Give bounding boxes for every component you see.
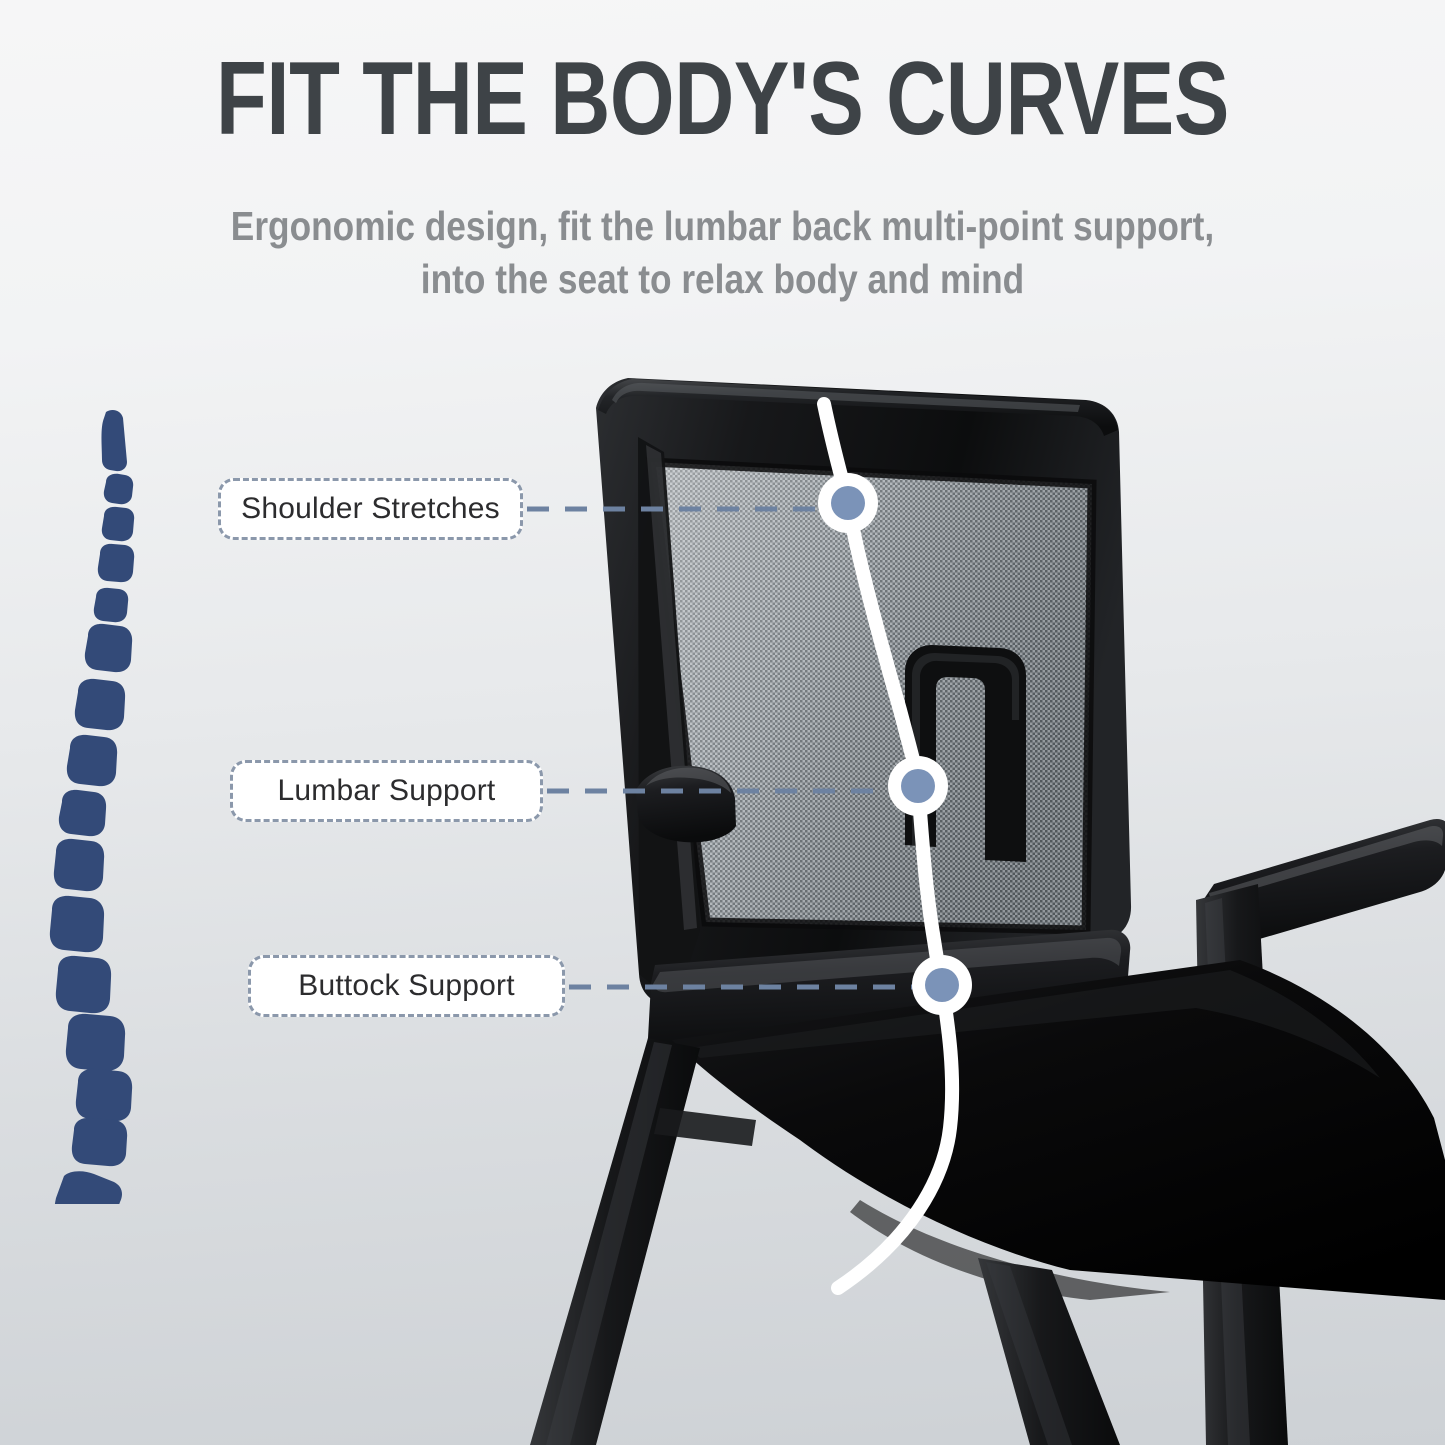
human-spine-illustration <box>26 404 216 1204</box>
callout-buttock-support[interactable]: Buttock Support <box>248 955 565 1017</box>
spine-vertebrae-group <box>46 410 134 1204</box>
callout-label-lumbar: Lumbar Support <box>278 774 496 808</box>
callout-label-shoulder: Shoulder Stretches <box>241 492 500 526</box>
vertebra-l5 <box>72 1118 127 1166</box>
vertebra-c2 <box>104 474 133 504</box>
vertebra-c3 <box>102 507 134 541</box>
vertebra-l1 <box>50 896 104 952</box>
vertebra-t2 <box>85 624 132 672</box>
callout-lumbar-support[interactable]: Lumbar Support <box>230 760 543 822</box>
vertebra-t6 <box>54 839 104 891</box>
callout-shoulder-stretches[interactable]: Shoulder Stretches <box>218 478 523 540</box>
subtitle-line-1: Ergonomic design, fit the lumbar back mu… <box>101 200 1344 253</box>
vertebra-l3 <box>66 1014 125 1071</box>
vertebra-t5 <box>59 790 106 836</box>
page-subtitle: Ergonomic design, fit the lumbar back mu… <box>101 200 1344 307</box>
sacrum-coccyx <box>46 1171 122 1204</box>
vertebra-c4 <box>98 544 134 582</box>
vertebra-t4 <box>67 735 117 786</box>
infographic-canvas: Shoulder Stretches Lumbar Support Buttoc… <box>0 0 1445 1445</box>
subtitle-line-2: into the seat to relax body and mind <box>101 253 1344 306</box>
callout-label-buttock: Buttock Support <box>298 969 514 1003</box>
vertebra-c1 <box>102 410 128 471</box>
vertebra-t1 <box>94 588 128 622</box>
vertebra-t3 <box>75 679 125 730</box>
page-title: FIT THE BODY'S CURVES <box>145 46 1301 152</box>
vertebra-l4 <box>76 1069 132 1121</box>
vertebra-l2 <box>56 956 111 1013</box>
